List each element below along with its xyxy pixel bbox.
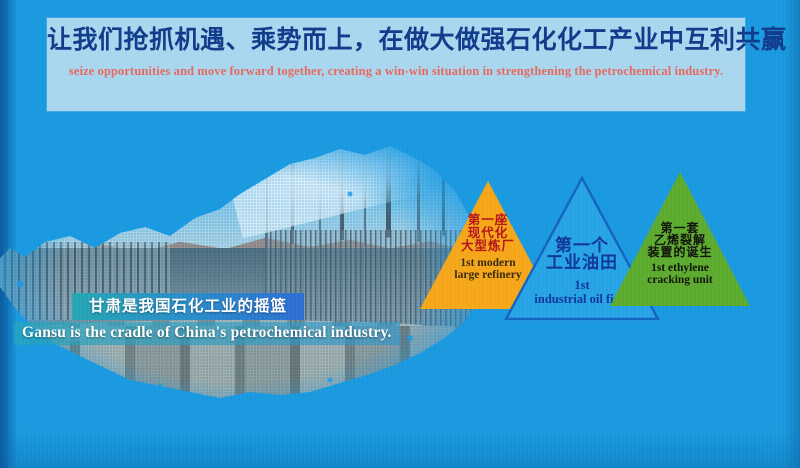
refinery-photo	[0, 128, 490, 428]
triangle-label-chinese: 第一套 乙烯裂解 装置的诞生	[610, 222, 750, 259]
header-banner: 让我们抢抓机遇、乘势而上，在做大做强石化化工产业中互利共赢 seize oppo…	[47, 18, 745, 111]
triangle-cn-line-3: 装置的诞生	[610, 246, 750, 258]
triangle-label-english: 1st ethylene cracking unit	[610, 262, 750, 287]
header-title-chinese: 让我们抢抓机遇、乘势而上，在做大做强石化化工产业中互利共赢	[47, 22, 745, 58]
photo-caption-english: Gansu is the cradle of China's petrochem…	[14, 322, 400, 345]
triangle-en-line-2: cracking unit	[610, 274, 750, 286]
photo-edge-fade	[0, 128, 490, 428]
photo-caption-chinese: 甘肃是我国石化工业的摇篮	[72, 293, 304, 320]
right-edge-shading	[786, 0, 800, 468]
bottom-edge-shading	[0, 430, 800, 468]
slide-canvas: 让我们抢抓机遇、乘势而上，在做大做强石化化工产业中互利共赢 seize oppo…	[0, 0, 800, 468]
refinery-photo-region	[0, 128, 490, 428]
left-edge-shading	[0, 0, 9, 468]
header-title-english: seize opportunities and move forward tog…	[61, 61, 731, 81]
milestone-triangle-ethylene[interactable]: 第一套 乙烯裂解 装置的诞生 1st ethylene cracking uni…	[610, 172, 750, 306]
triangle-en-line-1: 1st ethylene	[610, 262, 750, 274]
